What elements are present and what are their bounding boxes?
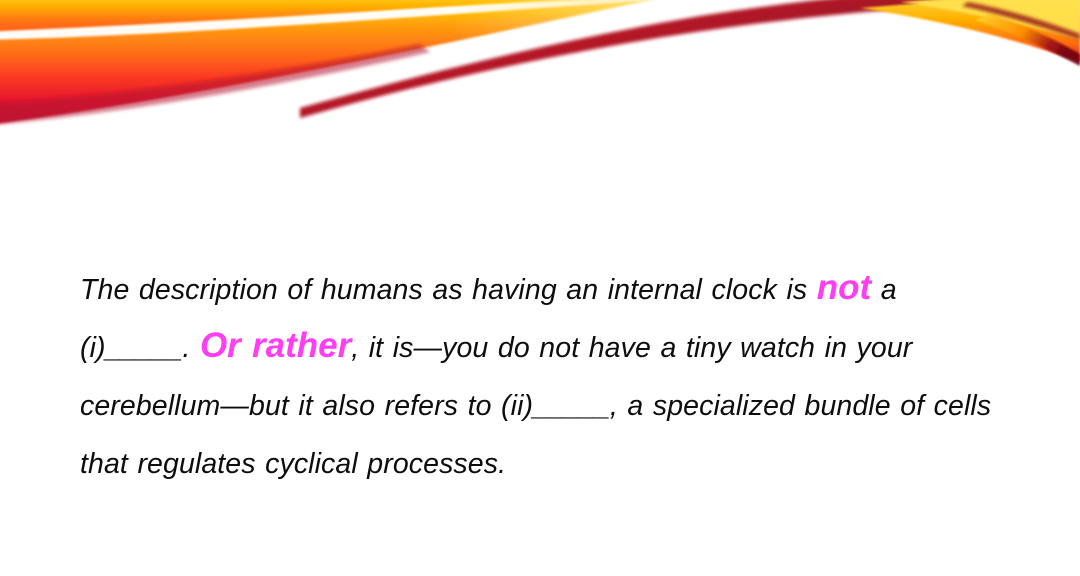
slide-canvas: The description of humans as having an i… — [0, 0, 1080, 576]
emphasis-or-rather: Or rather — [200, 326, 351, 365]
blank-ii: _____ — [533, 390, 610, 422]
slide-body-text: The description of humans as having an i… — [80, 261, 1015, 493]
text-segment-3: . — [182, 332, 200, 364]
orange-red-swoosh-banner — [0, 0, 1080, 150]
text-segment-1: The description of humans as having an i… — [80, 274, 817, 306]
blank-i: _____ — [106, 332, 183, 364]
emphasis-not: not — [817, 268, 871, 307]
